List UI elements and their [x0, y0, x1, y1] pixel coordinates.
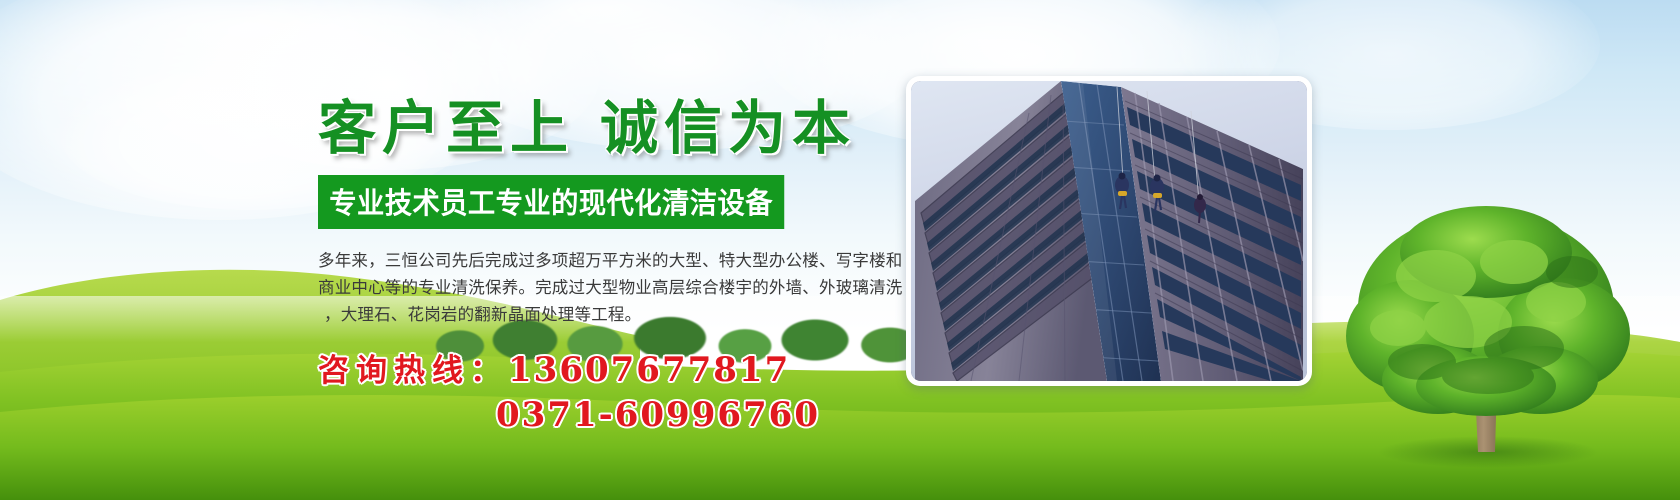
text-content-column: 客户至上诚信为本 专业技术员工专业的现代化清洁设备 多年来，三恒公司先后完成过多…: [318, 98, 898, 438]
subtitle-green-bar: 专业技术员工专业的现代化清洁设备: [318, 175, 784, 229]
building-photo: [911, 81, 1307, 381]
hotline-label: 咨询热线：: [318, 353, 508, 389]
hotline-mobile-number[interactable]: 13607677817: [508, 350, 790, 390]
paragraph-line: ，大理石、花岗岩的翻新晶面处理等工程。: [318, 301, 880, 328]
hotline-secondary: 0371-60996760: [318, 393, 898, 438]
paragraph-line: 多年来，三恒公司先后完成过多项超万平方米的大型、特大型办公楼、写字楼和: [318, 247, 880, 274]
building-photo-card[interactable]: [906, 76, 1312, 386]
highrise-cleaning-photo-illustration: [911, 81, 1307, 381]
page-title: 客户至上诚信为本: [318, 98, 898, 159]
promo-banner: 客户至上诚信为本 专业技术员工专业的现代化清洁设备 多年来，三恒公司先后完成过多…: [0, 0, 1680, 500]
headline-part-1: 客户至上: [318, 94, 574, 162]
hotline-block: 咨询热线：13607677817 0371-60996760: [318, 348, 898, 438]
hotline-landline-number[interactable]: 0371-60996760: [496, 395, 820, 435]
headline-part-2: 诚信为本: [600, 94, 856, 162]
hotline-primary: 咨询热线：13607677817: [318, 348, 898, 393]
tree-illustration: [1318, 190, 1648, 470]
description-paragraph: 多年来，三恒公司先后完成过多项超万平方米的大型、特大型办公楼、写字楼和 商业中心…: [318, 247, 880, 328]
paragraph-line: 商业中心等的专业清洗保养。完成过大型物业高层综合楼宇的外墙、外玻璃清洗: [318, 274, 880, 301]
